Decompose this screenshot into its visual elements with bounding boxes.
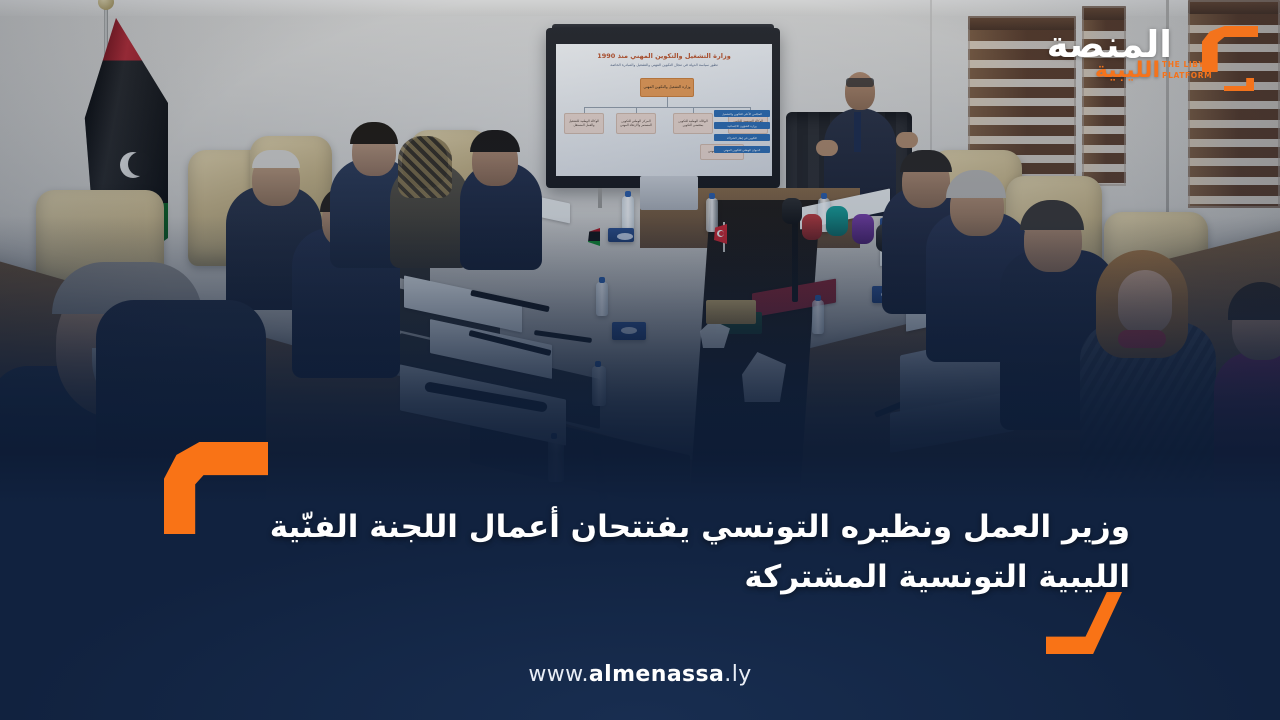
headline: وزير العمل ونظيره التونسي يفتتحان أعمال …: [120, 502, 1130, 602]
logo-arabic-sub: الليبية: [1095, 60, 1160, 82]
news-card: وزارة التشغيل والتكوين المهني منذ 1990 ت…: [0, 0, 1280, 720]
headline-line-1: وزير العمل ونظيره التونسي يفتتحان أعمال …: [270, 509, 1130, 545]
logo-corner-tick-icon: [1224, 78, 1254, 91]
url-brand: almenassa: [589, 662, 724, 687]
almenassa-logo[interactable]: المنصة الليبية THE LIBYAN PLATFORM: [1058, 16, 1258, 94]
headline-line-2: الليبية التونسية المشتركة: [120, 552, 1130, 602]
website-url[interactable]: www.almenassa.ly: [0, 662, 1280, 687]
url-suffix: .ly: [724, 662, 751, 687]
logo-bracket-icon: [1202, 26, 1258, 72]
url-prefix: www.: [528, 662, 589, 687]
